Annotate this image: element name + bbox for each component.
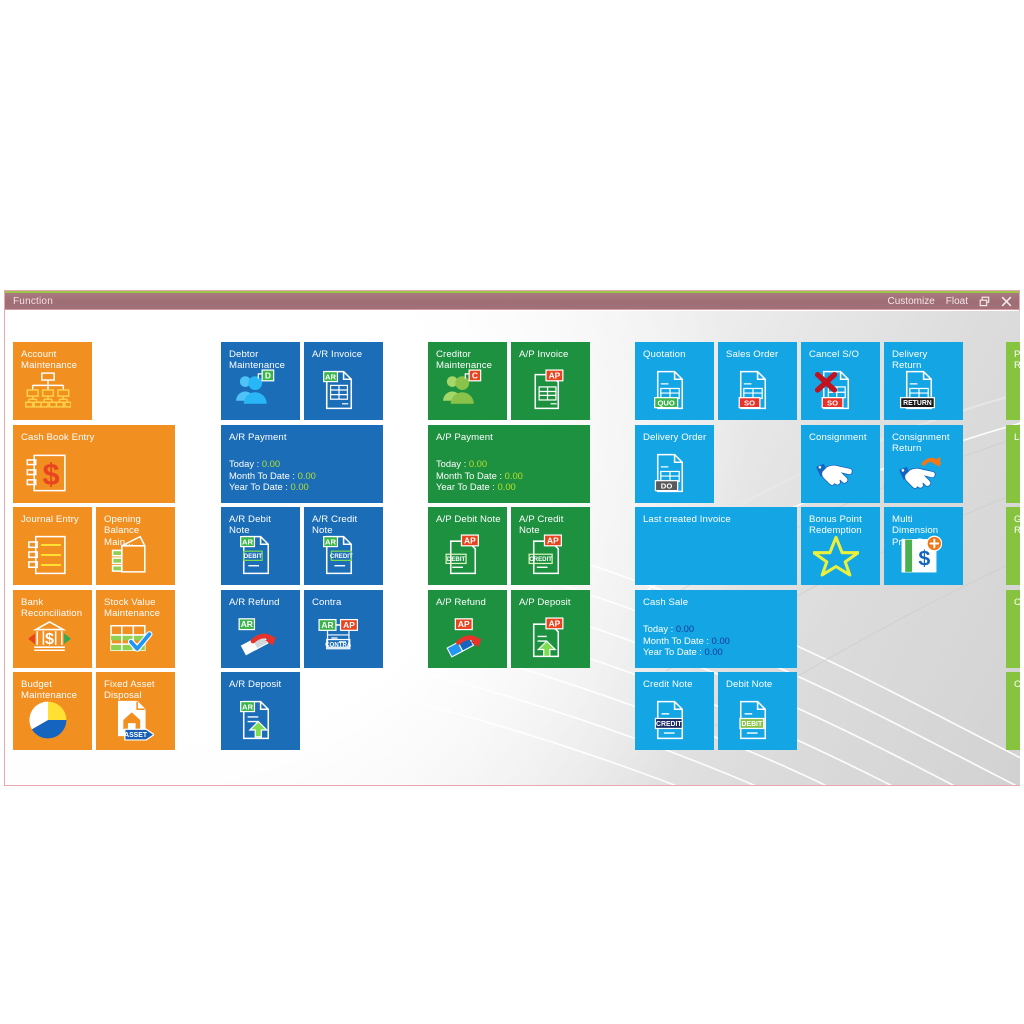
tile-debit-note[interactable]: Debit NoteDEBIT (718, 672, 797, 750)
svg-text:RETURN: RETURN (903, 400, 932, 407)
quotation-doc-icon: QUO (635, 364, 714, 416)
org-chart-icon (13, 364, 92, 416)
ar-credit-doc-icon: ARCREDIT (304, 529, 383, 581)
tile-sales-order[interactable]: Sales OrderSO (718, 342, 797, 420)
svg-text:ASSET: ASSET (124, 732, 148, 739)
stat-label: Month To Date : (229, 470, 298, 481)
ar-refund-icon: AR (221, 612, 300, 664)
svg-text:D: D (265, 370, 271, 380)
handshake-icon (801, 447, 880, 499)
svg-text:AP: AP (549, 370, 561, 380)
tile-label: Sales Order (726, 349, 791, 360)
ar-deposit-icon: AR (221, 694, 300, 746)
tile-label: Debit Note (726, 679, 791, 690)
tile-ap-payment[interactable]: A/P PaymentToday : 0.00Month To Date : 0… (428, 425, 590, 503)
stat-value: 0.00 (262, 458, 280, 469)
stat-label: Year To Date : (643, 646, 705, 657)
tile-label: Credit Note (643, 679, 708, 690)
app-root: AUTOCOUNT ACCOUNTING Basic Edition (0, 0, 1024, 1024)
bank-dollar-arrows-icon: $ (13, 612, 92, 664)
svg-text:$: $ (918, 547, 930, 571)
tile-delivery-return[interactable]: Delivery ReturnRETURN (884, 342, 963, 420)
cash-book-dollar-icon: $ (13, 447, 175, 499)
tile-label: Cancel S/O (809, 349, 874, 360)
tile-fixed-asset-disposal[interactable]: Fixed AssetDisposalASSET (96, 672, 175, 750)
close-icon[interactable] (1001, 296, 1012, 307)
tile-contra[interactable]: ContraARAPCONTRA (304, 590, 383, 668)
tile-budget-maintenance[interactable]: BudgetMaintenance (13, 672, 92, 750)
credit-note-doc-icon: CREDIT (635, 694, 714, 746)
stat-label: Today : (643, 623, 676, 634)
tile-cancel-so[interactable]: Cancel S/OSO (801, 342, 880, 420)
tile-label: Journal Entry (21, 514, 86, 525)
asset-house-icon: ASSET (96, 694, 175, 746)
stat-value: 0.00 (676, 623, 694, 634)
tile-ar-payment[interactable]: A/R PaymentToday : 0.00Month To Date : 0… (221, 425, 383, 503)
svg-text:CREDIT: CREDIT (656, 721, 682, 728)
stat-label: Year To Date : (229, 481, 291, 492)
tile-label: Cash Sale (643, 597, 791, 608)
cancel-so-doc-icon: SO (801, 364, 880, 416)
svg-text:DEBIT: DEBIT (447, 556, 466, 563)
tile-label: C... (1014, 597, 1020, 608)
tile-ar-debit-note[interactable]: A/R Debit NoteARDEBIT (221, 507, 300, 585)
tile-ar-refund[interactable]: A/R RefundAR (221, 590, 300, 668)
svg-text:AR: AR (325, 372, 337, 381)
tile-cash-book-entry[interactable]: Cash Book Entry$ (13, 425, 175, 503)
tile-last-created-invoice[interactable]: Last created Invoice (635, 507, 797, 585)
stat-label: Today : (229, 458, 262, 469)
debtor-people-d-icon: D (221, 364, 300, 416)
svg-text:AR: AR (321, 620, 333, 630)
panel-titlebar: Function Customize Float (5, 293, 1019, 310)
ap-debit-doc-icon: APDEBIT (428, 529, 507, 581)
svg-text:SO: SO (744, 398, 755, 407)
tile-label: A/P Invoice (519, 349, 584, 360)
stat-value: 0.00 (498, 481, 516, 492)
tile-ap-credit-note[interactable]: A/P Credit NoteAPCREDIT (511, 507, 590, 585)
tile-quotation[interactable]: QuotationQUO (635, 342, 714, 420)
svg-text:AP: AP (464, 535, 476, 545)
tile-purchase-clipped-5[interactable]: C... (1006, 672, 1020, 750)
stat-value: 0.00 (298, 470, 316, 481)
stat-label: Month To Date : (436, 470, 505, 481)
tile-bonus-point-redemption[interactable]: Bonus PointRedemption (801, 507, 880, 585)
tile-ar-deposit[interactable]: A/R DepositAR (221, 672, 300, 750)
svg-text:QUO: QUO (657, 398, 674, 407)
tile-stats: Today : 0.00Month To Date : 0.00Year To … (436, 458, 585, 493)
tile-bank-reconciliation[interactable]: BankReconciliation$ (13, 590, 92, 668)
ap-refund-icon: AP (428, 612, 507, 664)
tile-account-maintenance[interactable]: AccountMaintenance (13, 342, 92, 420)
tile-stock-value-maintenance[interactable]: Stock ValueMaintenance (96, 590, 175, 668)
price-book-icon: $ (884, 529, 963, 581)
svg-text:DO: DO (661, 481, 673, 490)
tile-label: A/P Payment (436, 432, 584, 443)
brand-bar: AUTOCOUNT ACCOUNTING Basic Edition (0, 240, 1024, 282)
stat-value: 0.00 (469, 458, 487, 469)
stat-label: Year To Date : (436, 481, 498, 492)
svg-text:CONTRA: CONTRA (325, 641, 352, 648)
tile-ap-refund[interactable]: A/P RefundAP (428, 590, 507, 668)
svg-text:AP: AP (549, 618, 561, 628)
tile-label: A/R Deposit (229, 679, 294, 690)
pie-chart-icon (13, 694, 92, 746)
tile-purchase-clipped-2[interactable]: La... (1006, 425, 1020, 503)
ap-invoice-doc-icon: AP (511, 364, 590, 416)
svg-text:DEBIT: DEBIT (742, 721, 763, 728)
tile-consignment[interactable]: Consignment (801, 425, 880, 503)
tile-label: C... (1014, 679, 1020, 690)
tile-label: A/P Refund (436, 597, 501, 608)
tile-label: Consignment (809, 432, 874, 443)
debit-note-doc-icon: DEBIT (718, 694, 797, 746)
tile-stats: Today : 0.00Month To Date : 0.00Year To … (643, 623, 792, 658)
tile-opening-balance-maintenance[interactable]: OpeningBalance Main... (96, 507, 175, 585)
tiles-canvas: AccountMaintenanceCash Book Entry$Journa… (6, 311, 1020, 785)
tile-label: La... (1014, 432, 1020, 443)
ap-deposit-icon: AP (511, 612, 590, 664)
ap-credit-doc-icon: APCREDIT (511, 529, 590, 581)
tile-credit-note[interactable]: Credit NoteCREDIT (635, 672, 714, 750)
opening-balance-icon (96, 529, 175, 581)
svg-text:DEBIT: DEBIT (244, 553, 263, 560)
tile-label: Quotation (643, 349, 708, 360)
stat-label: Today : (436, 458, 469, 469)
function-panel: Function Customize Float (4, 290, 1020, 786)
tile-ap-deposit[interactable]: A/P DepositAP (511, 590, 590, 668)
float-button[interactable]: Float (946, 296, 968, 307)
tile-label: Delivery Order (643, 432, 708, 443)
tile-label: A/R Refund (229, 597, 294, 608)
contra-ar-ap-icon: ARAPCONTRA (304, 612, 383, 664)
restore-window-icon[interactable] (979, 296, 990, 307)
tile-ar-credit-note[interactable]: A/R Credit NoteARCREDIT (304, 507, 383, 585)
tile-multi-dimension-price-book[interactable]: Multi DimensionPrice Book$ (884, 507, 963, 585)
tile-purchase-request[interactable]: PuR... (1006, 342, 1020, 420)
svg-text:AR: AR (241, 619, 253, 629)
svg-text:AR: AR (325, 537, 337, 546)
delivery-order-doc-icon: DO (635, 447, 714, 499)
svg-text:$: $ (45, 630, 54, 648)
stat-value: 0.00 (505, 470, 523, 481)
svg-text:AP: AP (343, 620, 355, 630)
stat-label: Month To Date : (643, 635, 712, 646)
ar-debit-doc-icon: ARDEBIT (221, 529, 300, 581)
tile-label: Cash Book Entry (21, 432, 169, 443)
tile-ar-invoice[interactable]: A/R InvoiceAR (304, 342, 383, 420)
tile-stats: Today : 0.00Month To Date : 0.00Year To … (229, 458, 378, 493)
svg-text:SO: SO (827, 398, 838, 407)
svg-text:AR: AR (242, 702, 254, 711)
creditor-people-c-icon: C (428, 364, 507, 416)
svg-text:C: C (472, 370, 478, 380)
svg-text:CREDIT: CREDIT (529, 556, 552, 563)
svg-text:$: $ (43, 458, 60, 492)
stat-value: 0.00 (705, 646, 723, 657)
tile-label: A/R Invoice (312, 349, 377, 360)
svg-text:AP: AP (547, 535, 559, 545)
tile-label: G...R... (1014, 514, 1020, 537)
ar-invoice-doc-icon: AR (304, 364, 383, 416)
tile-label: A/P Debit Note (436, 514, 501, 525)
tile-consignment-return[interactable]: ConsignmentReturn (884, 425, 963, 503)
svg-text:AP: AP (458, 619, 470, 629)
stat-value: 0.00 (291, 481, 309, 492)
tile-ap-debit-note[interactable]: A/P Debit NoteAPDEBIT (428, 507, 507, 585)
delivery-return-doc-icon: RETURN (884, 364, 963, 416)
tile-creditor-maintenance[interactable]: CreditorMaintenanceC (428, 342, 507, 420)
svg-text:AR: AR (242, 537, 254, 546)
tile-delivery-order[interactable]: Delivery OrderDO (635, 425, 714, 503)
tile-ap-invoice[interactable]: A/P InvoiceAP (511, 342, 590, 420)
panel-title: Function (13, 296, 53, 307)
tile-label: Contra (312, 597, 377, 608)
sales-order-doc-icon: SO (718, 364, 797, 416)
svg-text:CREDIT: CREDIT (330, 553, 353, 560)
tile-label: PuR... (1014, 349, 1020, 372)
tile-purchase-clipped-4[interactable]: C... (1006, 590, 1020, 668)
tile-label: A/P Deposit (519, 597, 584, 608)
stat-value: 0.00 (712, 635, 730, 646)
tile-cash-sale[interactable]: Cash SaleToday : 0.00Month To Date : 0.0… (635, 590, 797, 668)
tile-label: A/R Payment (229, 432, 377, 443)
handshake-return-icon (884, 447, 963, 499)
tile-debtor-maintenance[interactable]: DebtorMaintenanceD (221, 342, 300, 420)
journal-list-icon (13, 529, 92, 581)
stock-grid-check-icon (96, 612, 175, 664)
tile-journal-entry[interactable]: Journal Entry (13, 507, 92, 585)
tile-label: Last created Invoice (643, 514, 791, 525)
star-icon (801, 529, 880, 581)
tile-purchase-clipped-3[interactable]: G...R... (1006, 507, 1020, 585)
customize-button[interactable]: Customize (888, 296, 935, 307)
